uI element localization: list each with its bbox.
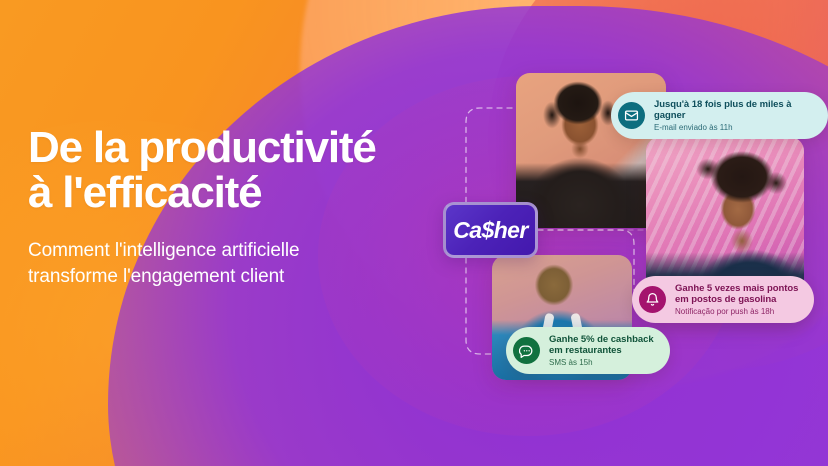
notification-card-email: Jusqu'à 18 fois plus de miles à gagner E… xyxy=(611,92,828,139)
notification-title-sms: Ganhe 5% de cashback em restaurantes xyxy=(549,334,654,356)
headline-line-2: à l'efficacité xyxy=(28,171,468,216)
hero-copy: De la productivité à l'efficacité Commen… xyxy=(28,126,468,290)
page-subtitle: Comment l'intelligence artificielle tran… xyxy=(28,238,468,290)
notification-title-email: Jusqu'à 18 fois plus de miles à gagner xyxy=(654,99,812,121)
subhead-line-1: Comment l'intelligence artificielle xyxy=(28,240,300,261)
notification-meta-push: Notificação por push às 18h xyxy=(675,307,798,316)
notification-card-push: Ganhe 5 vezes mais pontos em postos de g… xyxy=(632,276,814,323)
casher-logo-text: Ca$her xyxy=(453,219,527,242)
headline-line-1: De la productivité xyxy=(28,123,376,172)
notification-title-push: Ganhe 5 vezes mais pontos em postos de g… xyxy=(675,283,798,305)
page-title: De la productivité à l'efficacité xyxy=(28,126,468,216)
notification-text-sms: Ganhe 5% de cashback em restaurantes SMS… xyxy=(549,334,654,367)
notification-card-sms: Ganhe 5% de cashback em restaurantes SMS… xyxy=(506,327,670,374)
notification-text-email: Jusqu'à 18 fois plus de miles à gagner E… xyxy=(654,99,812,132)
chat-bubble-icon xyxy=(513,337,540,364)
casher-logo-tile: Ca$her xyxy=(443,202,538,258)
notification-meta-sms: SMS às 15h xyxy=(549,358,654,367)
envelope-icon xyxy=(618,102,645,129)
subhead-line-2: transforme l'engagement client xyxy=(28,264,468,290)
hero-banner: De la productivité à l'efficacité Commen… xyxy=(0,0,828,466)
notification-text-push: Ganhe 5 vezes mais pontos em postos de g… xyxy=(675,283,798,316)
bell-icon xyxy=(639,286,666,313)
notification-meta-email: E-mail enviado às 11h xyxy=(654,123,812,132)
